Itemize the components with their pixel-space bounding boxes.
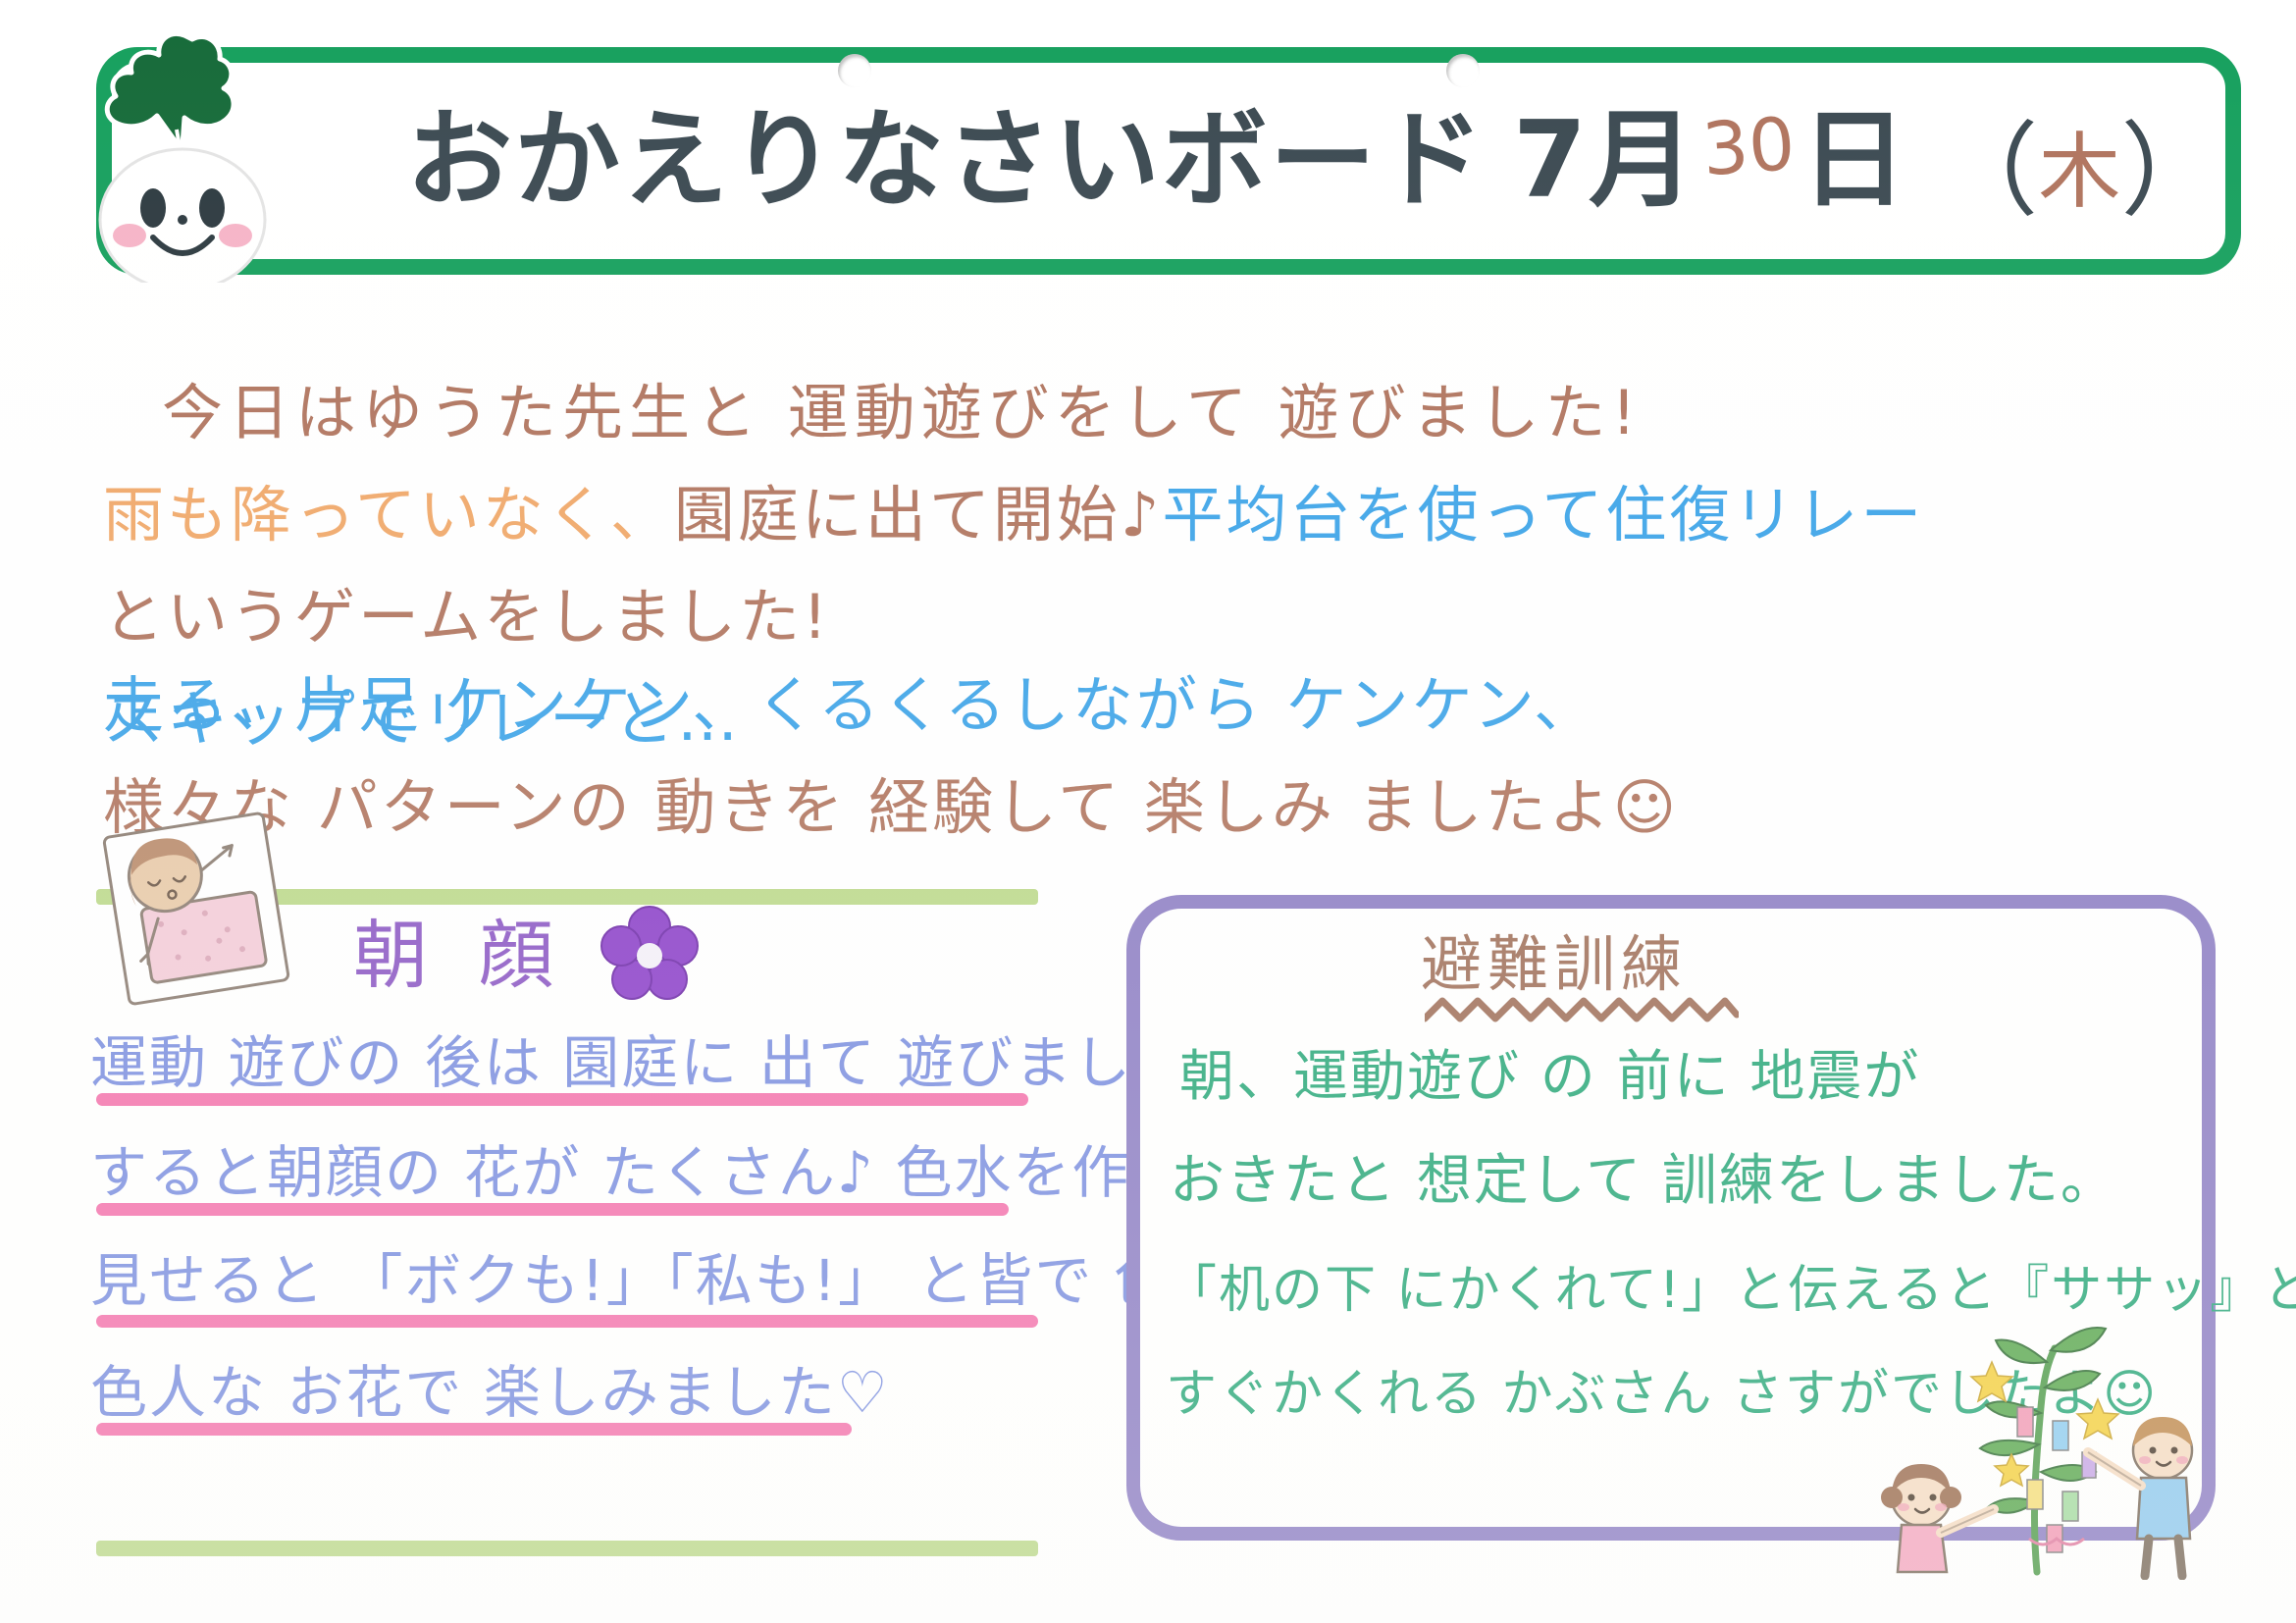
morning-glory-flower-icon xyxy=(600,905,699,1003)
kunren-line-1: 朝、運動遊び の 前に 地震が xyxy=(1179,1032,1920,1112)
board-title-row: おかえりなさいボード 7月 30 日 （ 木 ） xyxy=(406,63,2222,259)
kunren-line-2: おきたと 想定して 訓練をしました。 xyxy=(1170,1136,2117,1216)
body-line-2-orange: 雨も降っていなく、 xyxy=(103,479,674,550)
body-line-3-brown: というゲームをしました! xyxy=(103,581,830,653)
body-line-4-brown: 様々な パターンの 動きを 経験して 楽しみ ましたよ☺ xyxy=(103,771,1679,843)
section-heading-asagao: 朝 顔 xyxy=(353,895,567,1003)
zigzag-underline-icon xyxy=(1425,993,1739,1026)
body-line-1: 今日はゆうた先生と 運動遊びをして 遊びました! xyxy=(162,363,1642,451)
section-heading-hinan-kunren: 避難訓練 xyxy=(1421,915,1688,1003)
okaerinasai-board-page: おかえりなさいボード 7月 30 日 （ 木 ） 今日はゆうた先生と 運動 xyxy=(0,0,2296,1623)
header-board: おかえりなさいボード 7月 30 日 （ 木 ） xyxy=(96,47,2241,275)
body-line-2-note-icon: ♪ xyxy=(1121,479,1163,550)
body-line-4-blue: スキップでリレーと… xyxy=(103,683,741,755)
child-boy-icon xyxy=(2088,1417,2192,1576)
asagao-line-2: すると朝顔の 花が たくさん♪ 色水を作って xyxy=(90,1126,1245,1209)
body-line-2: 雨も降っていなく、園庭に出て開始♪平均台を使って住復リレー xyxy=(103,465,1924,553)
tanabata-bamboo-children-illustration xyxy=(1845,1305,2227,1580)
page-title: おかえりなさいボード xyxy=(406,108,1486,214)
turnip-mascot-icon xyxy=(75,27,300,283)
body-line-2-brown: 園庭に出て開始 xyxy=(674,479,1121,550)
asagao-line-4: 色人な お花で 楽しみました♡ xyxy=(90,1346,890,1429)
title-day-number: 30 xyxy=(1699,102,1798,192)
turnip-face-icon xyxy=(100,149,265,283)
title-weekday: 木 xyxy=(2038,106,2120,225)
sleeping-child-illustration xyxy=(98,811,294,1007)
title-month: 7月 xyxy=(1513,108,1696,214)
pink-underline-2 xyxy=(96,1203,1009,1216)
pink-underline-3 xyxy=(96,1315,1038,1328)
paren-close: ） xyxy=(2120,87,2222,236)
child-girl-icon xyxy=(1881,1464,1994,1572)
body-line-4: スキップでリレーと…様々な パターンの 動きを 経験して 楽しみ ましたよ☺ xyxy=(103,669,2296,846)
turnip-leaves-icon xyxy=(107,33,234,163)
paren-open: （ xyxy=(1936,87,2038,236)
title-day-kanji: 日 xyxy=(1800,108,1908,214)
asagao-line-1: 運動 遊びの 後は 園庭に 出て 遊びました 。 xyxy=(90,1017,1271,1099)
pink-underline-4 xyxy=(96,1423,852,1436)
green-divider-bottom xyxy=(96,1541,1038,1556)
body-line-2-blue: 平均台を使って住復リレー xyxy=(1163,479,1925,550)
pink-underline-1 xyxy=(96,1093,1028,1106)
